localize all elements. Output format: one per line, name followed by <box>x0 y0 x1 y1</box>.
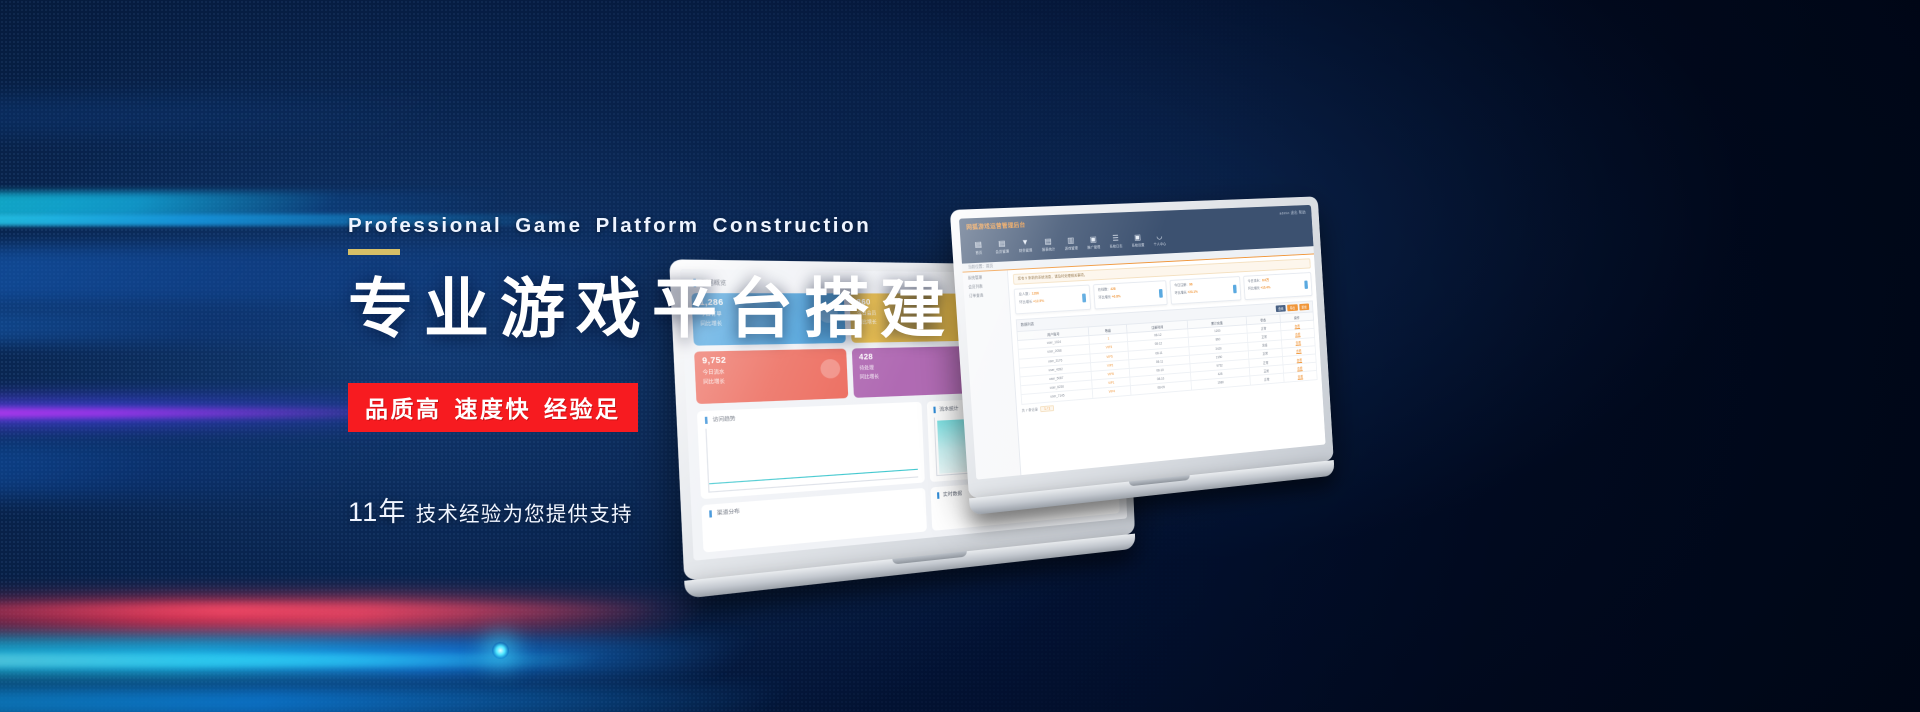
cell-action[interactable]: 查看 <box>1283 371 1317 382</box>
kpi-value: 428 <box>1110 287 1115 291</box>
tagline-word-0: Professional <box>348 214 502 237</box>
toolbar-item-settings[interactable]: ▣系统设置 <box>1126 232 1149 248</box>
user-icon: ◡ <box>1148 231 1170 242</box>
kpi-delta-value: +23.1% <box>1187 290 1197 294</box>
hero-copy: ProfessionalGamePlatformConstruction 专业游… <box>348 214 1048 529</box>
bar-icon <box>1304 281 1308 289</box>
kpi-card[interactable]: 今日注册：96 环比增长 +23.1% <box>1170 276 1242 305</box>
banner-stage: ProfessionalGamePlatformConstruction 专业游… <box>0 0 1920 712</box>
tagline-word-2: Platform <box>596 214 700 237</box>
kpi-value: 8.6万 <box>1262 278 1269 282</box>
kpi-delta-value: +6.8% <box>1112 294 1121 298</box>
bar-icon <box>1233 285 1237 294</box>
toolbar-item-logs[interactable]: ☰系统日志 <box>1104 233 1127 249</box>
gear-icon: ▣ <box>1126 232 1149 243</box>
toolbar-label: 游戏管理 <box>1060 245 1083 251</box>
toolbar-label: 个人中心 <box>1149 241 1171 247</box>
toolbar-item-games[interactable]: ▥游戏管理 <box>1059 235 1083 252</box>
kpi-delta-label: 环比增长 <box>1098 295 1112 300</box>
toolbar-label: 系统日志 <box>1105 243 1127 249</box>
experience-text: 技术经验为您提供支持 <box>416 503 633 526</box>
search-button[interactable]: 查询 <box>1276 305 1286 312</box>
toolbar-item-profile[interactable]: ◡个人中心 <box>1148 231 1171 247</box>
experience-years: 11年 <box>348 497 407 527</box>
tagline-word-1: Game <box>515 214 582 237</box>
app-header-right: admin 退出 帮助 <box>1279 210 1306 217</box>
badge-part-2: 经验足 <box>544 396 621 422</box>
cell-status: 正常 <box>1250 373 1284 384</box>
kpi-delta-label: 环比增长 <box>1175 290 1188 295</box>
badge-part-1: 速度快 <box>455 396 532 422</box>
list-icon: ☰ <box>1104 233 1127 244</box>
gold-rule <box>348 249 400 255</box>
bar-icon <box>1082 294 1086 303</box>
kpi-line-2: 环比增长 +15.4% <box>1248 283 1308 291</box>
add-button[interactable]: 新增 <box>1299 303 1309 310</box>
app-content: 您有 5 条新的系统消息，请及时处理相关事项。 总人数：1286 环比增长 +1… <box>1008 254 1326 475</box>
experience-line: 11年技术经验为您提供支持 <box>348 490 1048 529</box>
toolbar-item-promo[interactable]: ▣推广管理 <box>1082 234 1105 251</box>
kpi-delta-value: +15.4% <box>1260 285 1270 289</box>
kpi-line-2: 环比增长 +23.1% <box>1175 287 1237 295</box>
export-button[interactable]: 导出 <box>1287 304 1297 311</box>
kpi-label: 今日注册： <box>1174 283 1189 288</box>
kpi-label: 在线数： <box>1098 287 1111 292</box>
toolbar-label: 系统设置 <box>1127 242 1149 248</box>
kpi-card[interactable]: 在线数：428 环比增长 +6.8% <box>1093 280 1168 309</box>
cell-level: VIP4 <box>1093 386 1132 398</box>
english-tagline: ProfessionalGamePlatformConstruction <box>348 214 1048 238</box>
toolbar-label: 推广管理 <box>1082 244 1105 250</box>
game-icon: ▥ <box>1059 235 1082 246</box>
promo-icon: ▣ <box>1082 234 1105 245</box>
kpi-delta-label: 环比增长 <box>1248 286 1261 290</box>
kpi-label: 今日流水： <box>1248 279 1263 284</box>
kpi-line-2: 环比增长 +6.8% <box>1098 292 1162 301</box>
kpi-value: 96 <box>1189 283 1193 287</box>
table-button-group: 查询 导出 新增 <box>1276 303 1310 312</box>
status-badge: 品质高速度快经验足 <box>348 383 638 432</box>
bar-icon <box>1159 289 1163 298</box>
page-title: 专业游戏平台搭建 <box>348 274 1048 344</box>
tagline-word-3: Construction <box>713 214 872 237</box>
badge-part-0: 品质高 <box>365 396 442 422</box>
kpi-card[interactable]: 今日流水：8.6万 环比增长 +15.4% <box>1243 272 1312 300</box>
